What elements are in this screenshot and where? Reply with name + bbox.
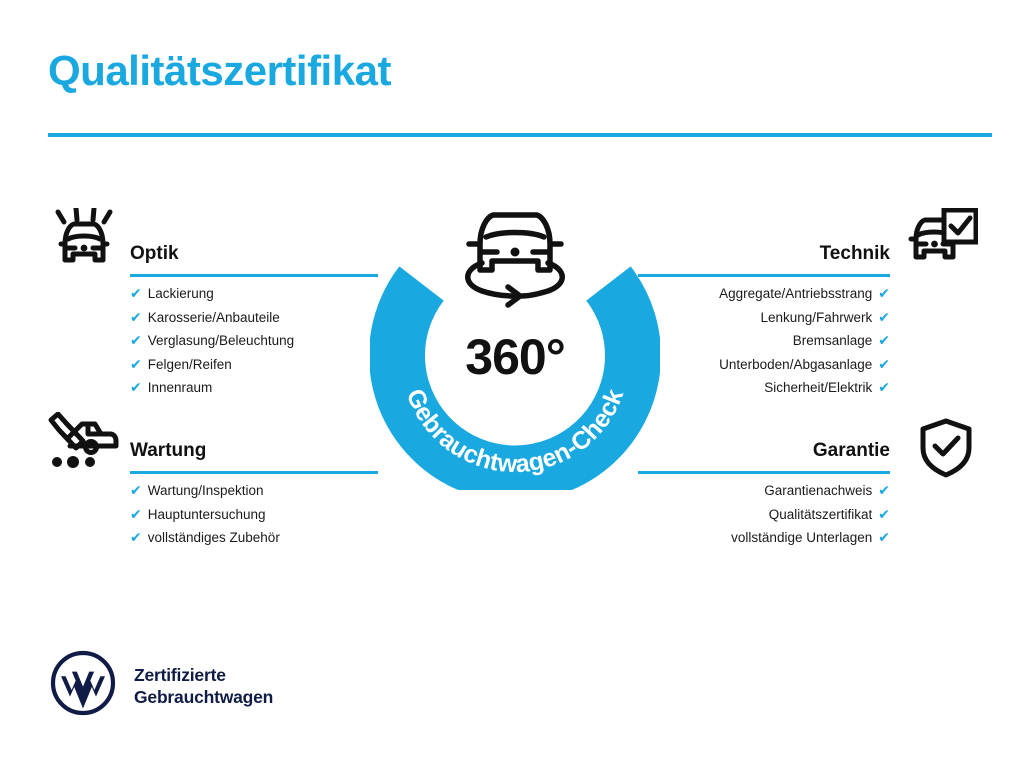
section-optik-title: Optik: [130, 240, 378, 268]
check-icon: ✔: [130, 503, 142, 527]
check-icon: ✔: [878, 282, 890, 306]
section-wartung-underline: [130, 471, 378, 474]
list-item-label: Felgen/Reifen: [148, 353, 232, 377]
check-icon: ✔: [878, 479, 890, 503]
section-technik-list: Aggregate/Antriebsstrang✔ Lenkung/Fahrwe…: [638, 282, 890, 400]
list-item: ✔Felgen/Reifen: [130, 353, 378, 377]
list-item-label: Lackierung: [148, 282, 214, 306]
list-item-label: Karosserie/Anbauteile: [148, 306, 280, 330]
check-icon: ✔: [130, 329, 142, 353]
list-item: Aggregate/Antriebsstrang✔: [638, 282, 890, 306]
check-icon: ✔: [130, 479, 142, 503]
car-front-checkbox-icon: [908, 208, 978, 275]
section-optik-underline: [130, 274, 378, 277]
check-icon: ✔: [130, 282, 142, 306]
check-icon: ✔: [878, 329, 890, 353]
list-item-label: Bremsanlage: [793, 329, 873, 353]
car-rotation-icon: [468, 215, 563, 305]
vw-certified-lockup: Zertifizierte Gebrauchtwagen: [50, 650, 273, 721]
section-garantie-underline: [638, 471, 890, 474]
list-item-label: Sicherheit/Elektrik: [764, 376, 872, 400]
check-icon: ✔: [878, 353, 890, 377]
list-item: Bremsanlage✔: [638, 329, 890, 353]
list-item: ✔Verglasung/Beleuchtung: [130, 329, 378, 353]
list-item: Qualitätszertifikat✔: [638, 503, 890, 527]
list-item-label: Innenraum: [148, 376, 213, 400]
section-technik-header: Technik: [638, 240, 890, 282]
title-divider: [48, 133, 992, 137]
section-wartung: Wartung ✔Wartung/Inspektion ✔Hauptunters…: [130, 437, 378, 550]
section-garantie: Garantie Garantienachweis✔ Qualitätszert…: [638, 437, 890, 550]
check-icon: ✔: [878, 376, 890, 400]
check-icon: ✔: [878, 503, 890, 527]
list-item-label: vollständige Unterlagen: [731, 526, 872, 550]
section-garantie-list: Garantienachweis✔ Qualitätszertifikat✔ v…: [638, 479, 890, 550]
section-garantie-title: Garantie: [638, 437, 890, 465]
vw-logo: [50, 650, 116, 721]
section-wartung-header: Wartung: [130, 437, 378, 479]
list-item-label: Hauptuntersuchung: [148, 503, 266, 527]
badge-360-gebrauchtwagen-check: Gebrauchtwagen-Check 360°: [370, 198, 660, 490]
page-title: Qualitätszertifikat: [48, 48, 391, 94]
list-item-label: Aggregate/Antriebsstrang: [719, 282, 872, 306]
list-item-label: Verglasung/Beleuchtung: [148, 329, 294, 353]
check-icon: ✔: [130, 526, 142, 550]
vw-wordmark: Zertifizierte Gebrauchtwagen: [134, 664, 273, 708]
section-wartung-title: Wartung: [130, 437, 378, 465]
list-item-label: Wartung/Inspektion: [148, 479, 264, 503]
list-item: ✔Wartung/Inspektion: [130, 479, 378, 503]
list-item: ✔Karosserie/Anbauteile: [130, 306, 378, 330]
wrench-car-service-icon: [46, 412, 120, 475]
section-optik: Optik ✔Lackierung ✔Karosserie/Anbauteile…: [130, 240, 378, 400]
section-optik-header: Optik: [130, 240, 378, 282]
list-item: ✔Innenraum: [130, 376, 378, 400]
shield-check-icon: [918, 418, 974, 483]
list-item: Unterboden/Abgasanlage✔: [638, 353, 890, 377]
list-item: vollständige Unterlagen✔: [638, 526, 890, 550]
check-icon: ✔: [130, 306, 142, 330]
list-item-label: Qualitätszertifikat: [769, 503, 873, 527]
vw-wordmark-line2: Gebrauchtwagen: [134, 686, 273, 708]
section-wartung-list: ✔Wartung/Inspektion ✔Hauptuntersuchung ✔…: [130, 479, 378, 550]
list-item-label: Lenkung/Fahrwerk: [760, 306, 872, 330]
list-item: Garantienachweis✔: [638, 479, 890, 503]
list-item: ✔Lackierung: [130, 282, 378, 306]
check-icon: ✔: [878, 306, 890, 330]
check-icon: ✔: [878, 526, 890, 550]
list-item: ✔Hauptuntersuchung: [130, 503, 378, 527]
section-optik-list: ✔Lackierung ✔Karosserie/Anbauteile ✔Verg…: [130, 282, 378, 400]
list-item-label: Garantienachweis: [764, 479, 872, 503]
list-item: Lenkung/Fahrwerk✔: [638, 306, 890, 330]
section-technik: Technik Aggregate/Antriebsstrang✔ Lenkun…: [638, 240, 890, 400]
check-icon: ✔: [130, 376, 142, 400]
list-item-label: Unterboden/Abgasanlage: [719, 353, 872, 377]
section-technik-title: Technik: [638, 240, 890, 268]
vw-wordmark-line1: Zertifizierte: [134, 664, 273, 686]
car-front-shine-icon: [46, 208, 118, 277]
check-icon: ✔: [130, 353, 142, 377]
list-item: Sicherheit/Elektrik✔: [638, 376, 890, 400]
list-item: ✔vollständiges Zubehör: [130, 526, 378, 550]
list-item-label: vollständiges Zubehör: [148, 526, 280, 550]
section-garantie-header: Garantie: [638, 437, 890, 479]
section-technik-underline: [638, 274, 890, 277]
